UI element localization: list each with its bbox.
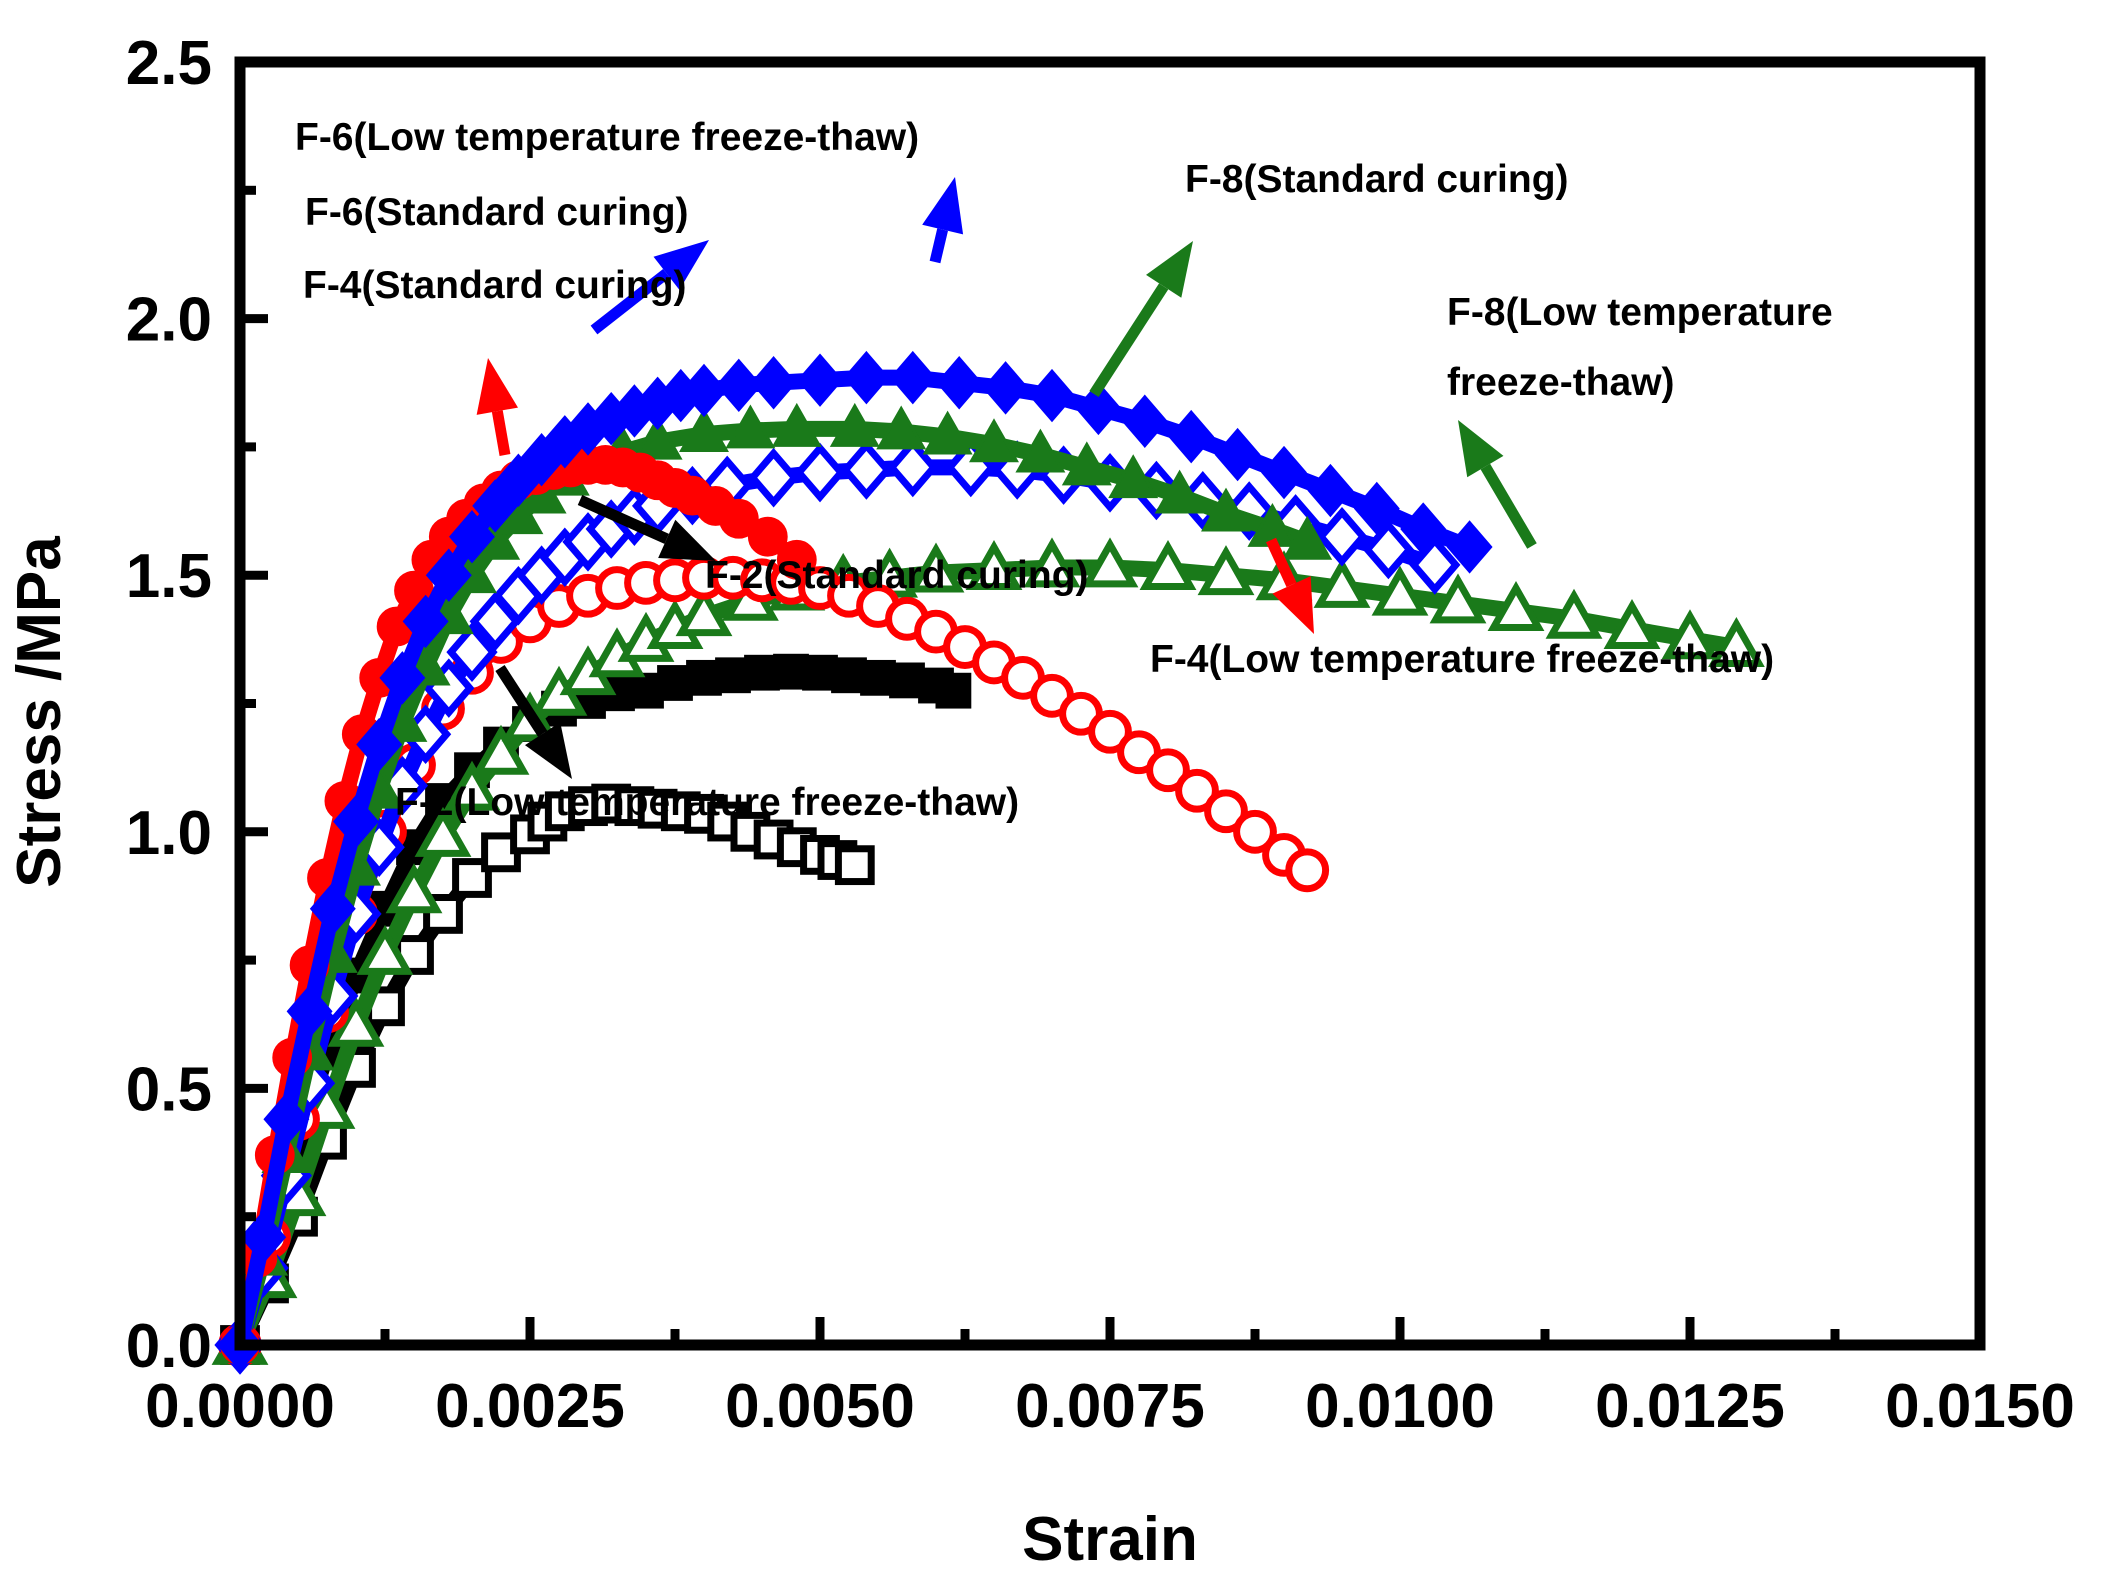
x-axis-title: Strain <box>1022 1505 1198 1574</box>
marker-filled-diamond <box>892 353 934 402</box>
plot-border <box>240 62 1980 1345</box>
annotation-f8-low: F-8(Low temperaturefreeze-thaw) <box>1447 291 1833 546</box>
annotation-label: F-6(Low temperature freeze-thaw) <box>295 116 919 159</box>
y-tick-label: 0.0 <box>126 1312 212 1381</box>
marker-open-diamond <box>1367 525 1409 574</box>
marker-open-diamond <box>799 448 841 497</box>
y-tick-label: 0.5 <box>126 1055 212 1124</box>
annotation-label: F-4(Low temperature freeze-thaw) <box>1150 638 1774 681</box>
annotation-label: F-8(Standard curing) <box>1185 158 1569 201</box>
marker-filled-diamond <box>1217 430 1259 479</box>
stress-strain-chart: 0.00000.00250.00500.00750.01000.01250.01… <box>0 0 2117 1594</box>
x-tick-label: 0.0025 <box>435 1372 625 1441</box>
marker-filled-diamond <box>1124 397 1166 446</box>
annotation-arrow-head <box>1146 241 1193 298</box>
x-tick-label: 0.0075 <box>1015 1372 1205 1441</box>
chart-figure: 0.00000.00250.00500.00750.01000.01250.01… <box>0 0 2117 1594</box>
annotation-arrow-shaft <box>1094 286 1164 394</box>
x-tick-label: 0.0150 <box>1885 1372 2075 1441</box>
annotation-f6-low: F-6(Low temperature freeze-thaw) <box>295 116 963 262</box>
annotation-arrow-head <box>658 520 716 561</box>
annotation-f6-std: F-6(Standard curing) <box>305 191 709 330</box>
marker-filled-diamond <box>985 363 1027 412</box>
marker-filled-diamond <box>1263 448 1305 497</box>
annotation-arrow-shaft <box>935 230 943 262</box>
plot-frame <box>240 62 1980 1345</box>
marker-open-circle <box>1289 852 1326 889</box>
marker-filled-diamond <box>1309 466 1351 515</box>
y-tick-label: 1.5 <box>126 542 212 611</box>
annotation-label: F-4(Standard curing) <box>303 264 687 307</box>
x-tick-label: 0.0050 <box>725 1372 915 1441</box>
marker-filled-diamond <box>1031 371 1073 420</box>
y-tick-label: 2.5 <box>126 29 212 98</box>
annotation-arrow-head <box>1458 420 1503 477</box>
axis-ticks <box>240 62 1980 1345</box>
marker-open-diamond <box>753 453 795 502</box>
marker-filled-diamond <box>753 358 795 407</box>
marker-filled-diamond <box>799 356 841 405</box>
marker-filled-square <box>937 674 970 707</box>
marker-open-square <box>838 849 871 882</box>
annotation-label: freeze-thaw) <box>1447 361 1675 404</box>
marker-filled-diamond <box>938 358 980 407</box>
annotation-arrow-head <box>477 358 518 415</box>
marker-filled-diamond <box>1170 412 1212 461</box>
annotation-arrow-shaft <box>497 411 505 455</box>
y-axis-title: Stress /MPa <box>5 536 74 888</box>
annotation-f8-std: F-8(Standard curing) <box>1094 158 1569 394</box>
annotation-arrow-shaft <box>1485 467 1532 546</box>
y-tick-label: 2.0 <box>126 286 212 355</box>
marker-filled-diamond <box>845 353 887 402</box>
x-tick-label: 0.0125 <box>1595 1372 1785 1441</box>
annotation-label: F-2(Standard curing) <box>705 554 1089 597</box>
annotation-arrow-head <box>922 177 963 234</box>
series-layer <box>218 353 1759 1369</box>
marker-open-diamond <box>845 446 887 495</box>
y-tick-label: 1.0 <box>126 799 212 868</box>
annotation-label: F-8(Low temperature <box>1447 291 1833 334</box>
annotation-label: F-2(Low temperature freeze-thaw) <box>395 781 1019 824</box>
x-tick-label: 0.0100 <box>1305 1372 1495 1441</box>
x-tick-label: 0.0000 <box>145 1372 335 1441</box>
annotation-label: F-6(Standard curing) <box>305 191 689 234</box>
